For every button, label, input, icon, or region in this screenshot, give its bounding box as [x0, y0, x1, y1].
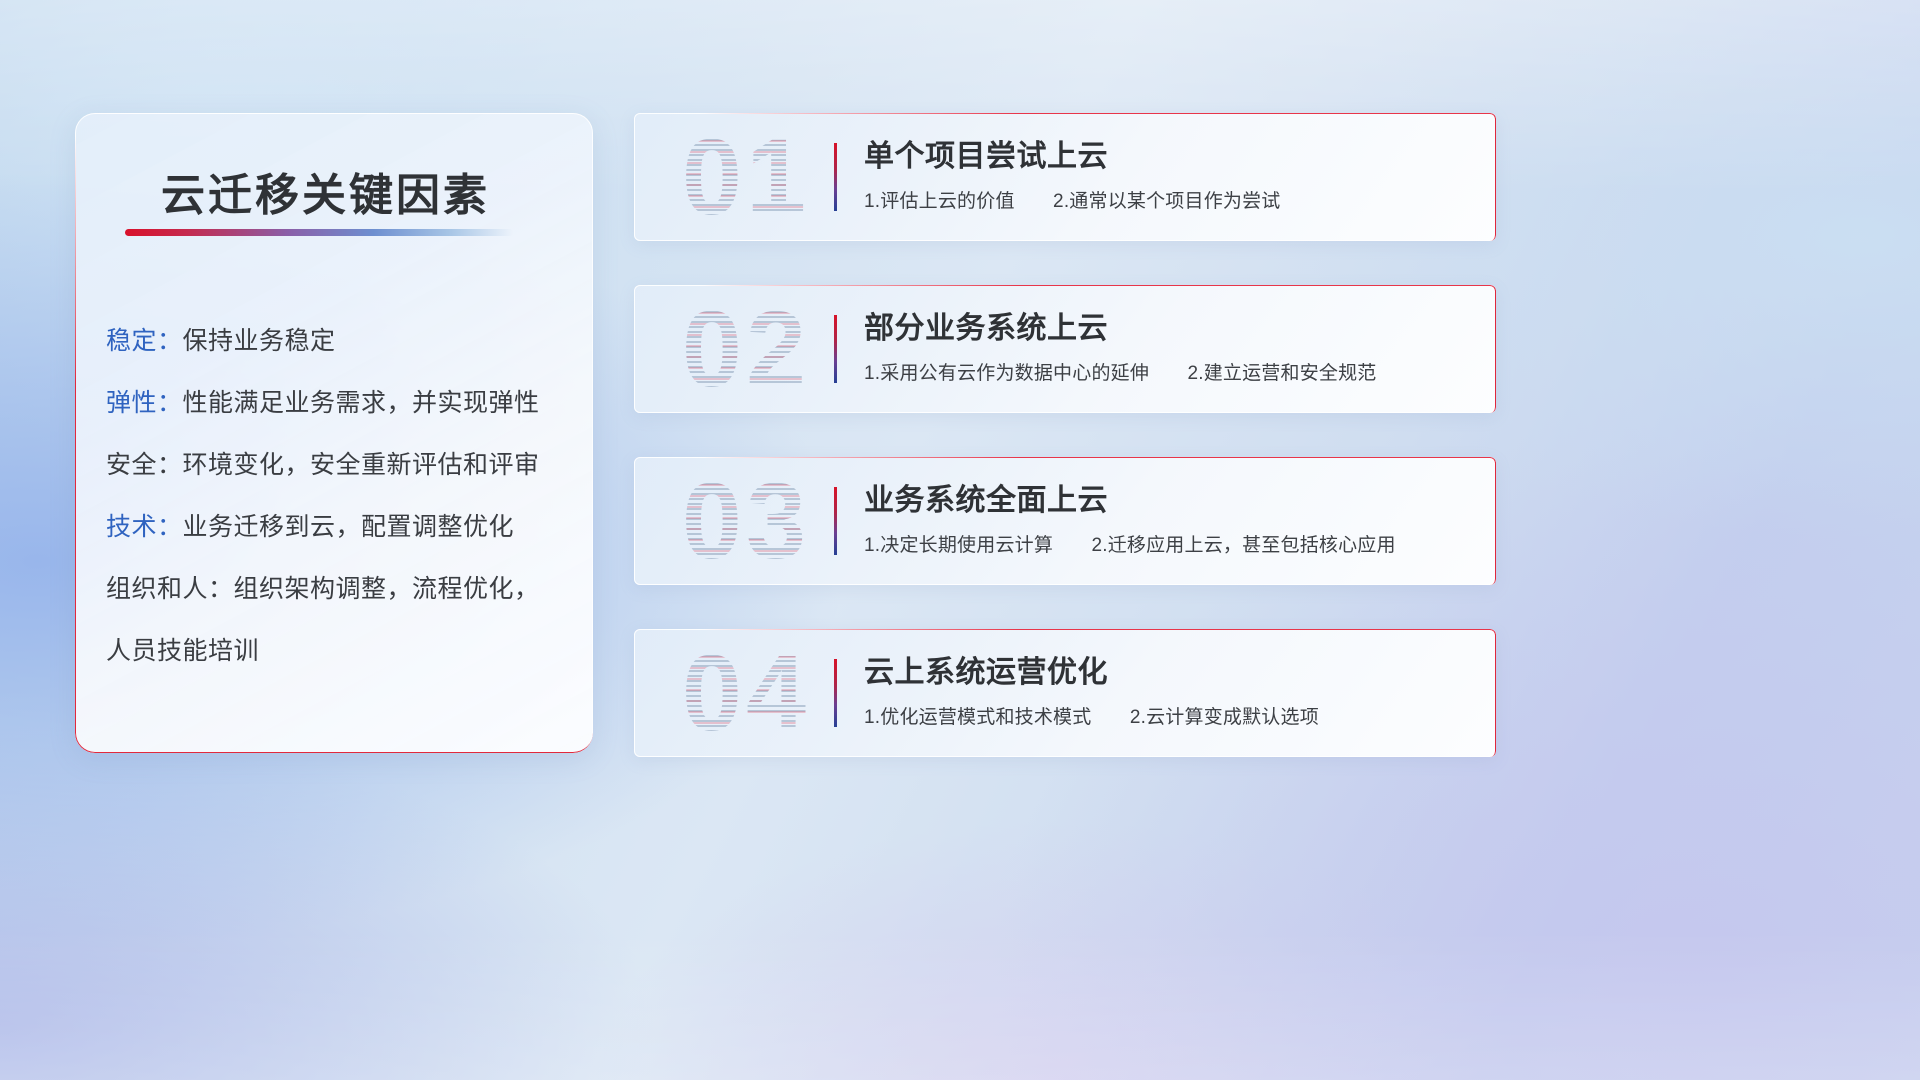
- factor-row: 技术：业务迁移到云，配置调整优化: [106, 496, 578, 558]
- factor-text: 性能满足业务需求，并实现弹性: [183, 389, 540, 417]
- step-card-body: 部分业务系统上云 1.采用公有云作为数据中心的延伸 2.建立运营和安全规范: [864, 309, 1480, 387]
- step-card[interactable]: 02 02 部分业务系统上云 1.采用公有云作为数据中心的延伸 2.建立运营和安…: [634, 285, 1496, 413]
- factor-list: 稳定：保持业务稳定 弹性：性能满足业务需求，并实现弹性 安全：环境变化，安全重新…: [106, 310, 578, 682]
- gradient-divider-bar: [834, 659, 837, 727]
- step-subtitle: 1.优化运营模式和技术模式 2.云计算变成默认选项: [864, 705, 1480, 731]
- factor-row: 人员技能培训: [106, 620, 578, 682]
- step-subtitle: 1.评估上云的价值 2.通常以某个项目作为尝试: [864, 189, 1480, 215]
- step-number-watermark-tint: 02: [656, 281, 836, 417]
- step-title: 部分业务系统上云: [864, 309, 1480, 349]
- factor-text: 组织架构调整，流程优化，: [234, 575, 540, 603]
- step-number-watermark-tint: 01: [656, 109, 836, 245]
- step-card-body: 云上系统运营优化 1.优化运营模式和技术模式 2.云计算变成默认选项: [864, 653, 1480, 731]
- step-title: 业务系统全面上云: [864, 481, 1480, 521]
- step-subtitle: 1.采用公有云作为数据中心的延伸 2.建立运营和安全规范: [864, 361, 1480, 387]
- factor-text: 保持业务稳定: [183, 327, 336, 355]
- gradient-divider-bar: [834, 143, 837, 211]
- factor-row: 弹性：性能满足业务需求，并实现弹性: [106, 372, 578, 434]
- gradient-divider-bar: [834, 315, 837, 383]
- step-card[interactable]: 01 01 单个项目尝试上云 1.评估上云的价值 2.通常以某个项目作为尝试: [634, 113, 1496, 241]
- step-number-watermark-tint: 03: [656, 453, 836, 589]
- page-title: 云迁移关键因素: [161, 159, 490, 223]
- step-title: 单个项目尝试上云: [864, 137, 1480, 177]
- factor-text: 业务迁移到云，配置调整优化: [183, 513, 515, 541]
- step-title: 云上系统运营优化: [864, 653, 1480, 693]
- step-card-body: 业务系统全面上云 1.决定长期使用云计算 2.迁移应用上云，甚至包括核心应用: [864, 481, 1480, 559]
- step-card-body: 单个项目尝试上云 1.评估上云的价值 2.通常以某个项目作为尝试: [864, 137, 1480, 215]
- factor-row: 组织和人：组织架构调整，流程优化，: [106, 558, 578, 620]
- factor-label: 组织和人：: [106, 575, 234, 603]
- step-card[interactable]: 04 04 云上系统运营优化 1.优化运营模式和技术模式 2.云计算变成默认选项: [634, 629, 1496, 757]
- factor-text: 环境变化，安全重新评估和评审: [183, 451, 540, 479]
- factor-label: 稳定：: [106, 327, 183, 355]
- migration-steps-list: 01 01 单个项目尝试上云 1.评估上云的价值 2.通常以某个项目作为尝试 0…: [634, 113, 1496, 757]
- key-factors-panel: 云迁移关键因素 稳定：保持业务稳定 弹性：性能满足业务需求，并实现弹性 安全：环…: [75, 113, 593, 753]
- step-card[interactable]: 03 03 业务系统全面上云 1.决定长期使用云计算 2.迁移应用上云，甚至包括…: [634, 457, 1496, 585]
- factor-text: 人员技能培训: [106, 637, 259, 665]
- step-number-watermark-tint: 04: [656, 625, 836, 761]
- factor-label: 技术：: [106, 513, 183, 541]
- step-subtitle: 1.决定长期使用云计算 2.迁移应用上云，甚至包括核心应用: [864, 533, 1480, 559]
- title-underline-gradient: [125, 229, 513, 236]
- factor-label: 安全：: [106, 451, 183, 479]
- factor-row: 安全：环境变化，安全重新评估和评审: [106, 434, 578, 496]
- factor-row: 稳定：保持业务稳定: [106, 310, 578, 372]
- gradient-divider-bar: [834, 487, 837, 555]
- factor-label: 弹性：: [106, 389, 183, 417]
